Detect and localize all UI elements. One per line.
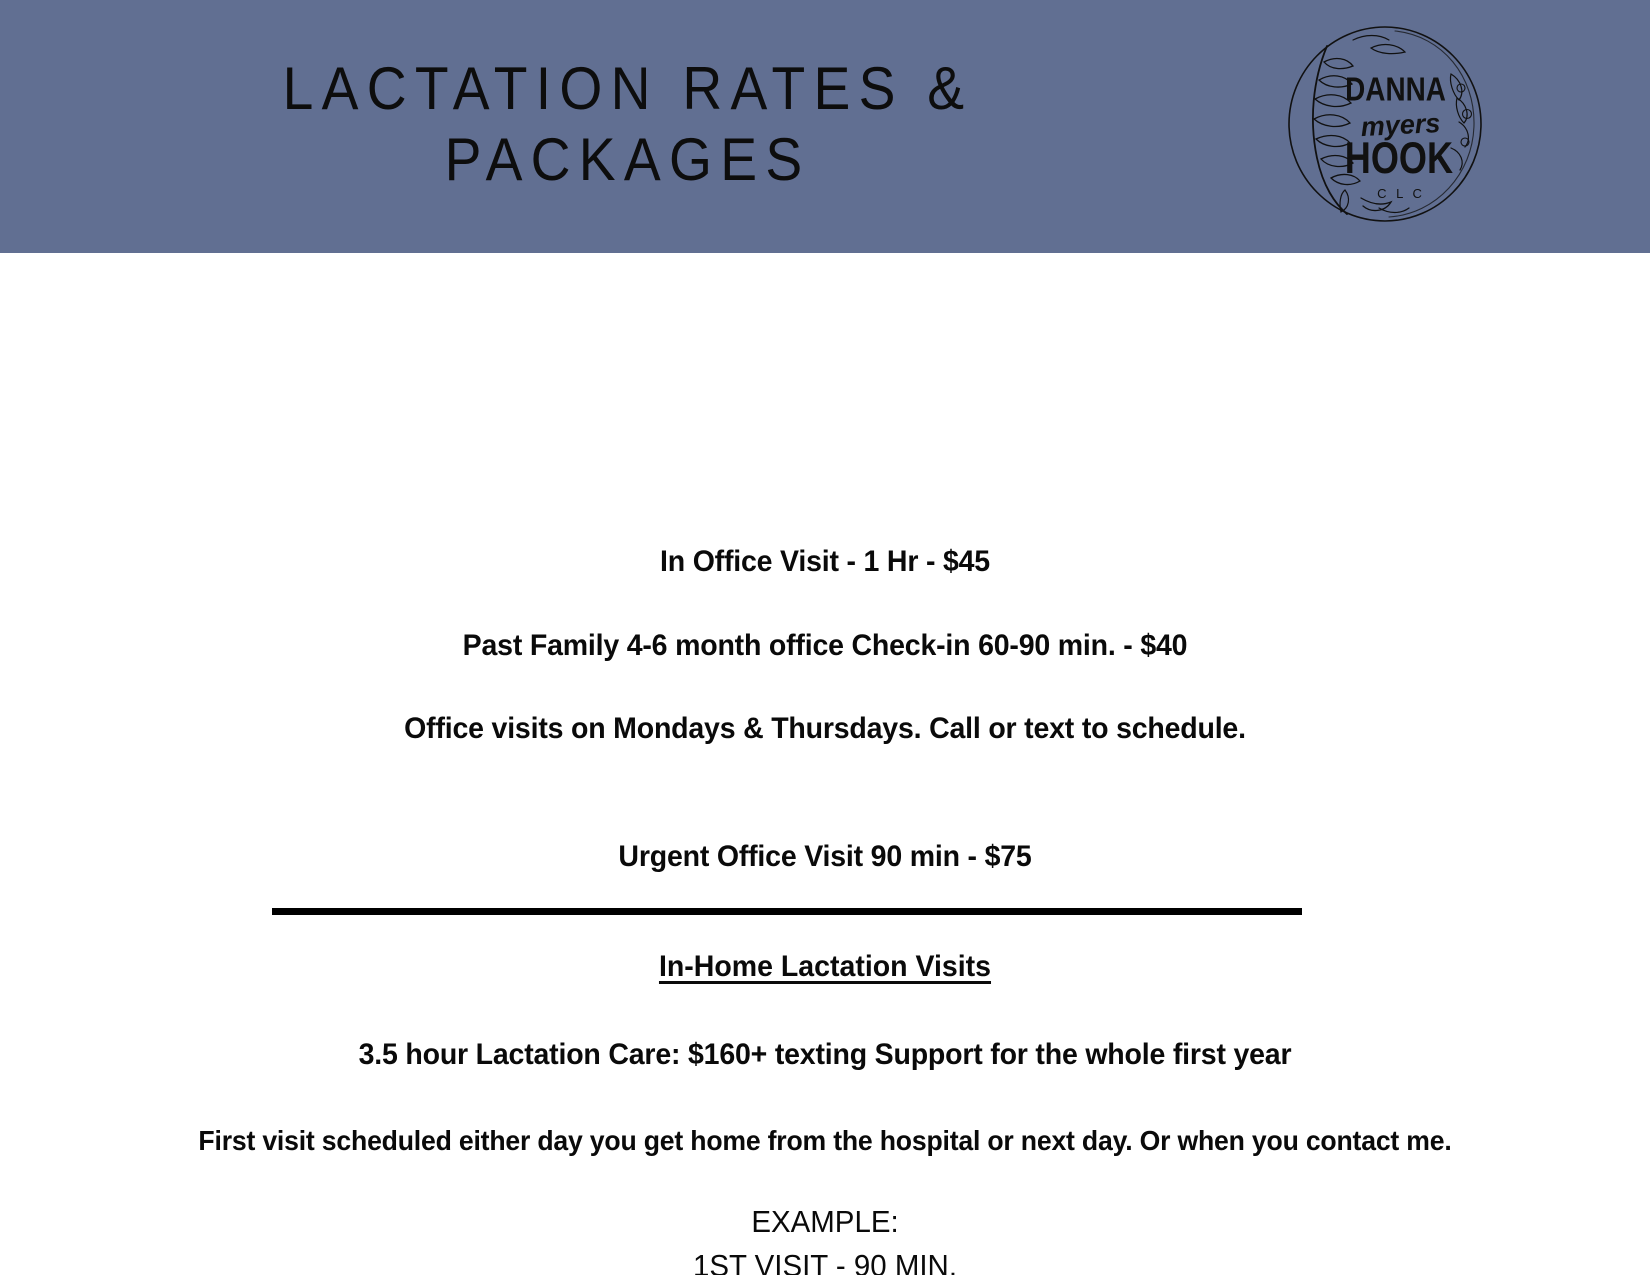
- flyer-body: In Office Visit - 1 Hr - $45 Past Family…: [0, 253, 1650, 1275]
- flyer-page: LACTATION RATES & PACKAGES: [0, 0, 1650, 1275]
- danna-myers-hook-clc-logo: DANNA myers HOOK C L C: [1283, 22, 1488, 227]
- page-title: LACTATION RATES & PACKAGES: [50, 54, 1205, 196]
- rate-in-office-visit: In Office Visit - 1 Hr - $45: [41, 545, 1609, 579]
- rate-past-family-checkin: Past Family 4-6 month office Check-in 60…: [41, 629, 1609, 663]
- header-band: LACTATION RATES & PACKAGES: [0, 0, 1650, 253]
- logo-line-danna: DANNA: [1345, 70, 1446, 108]
- section-heading-in-home-lactation-visits: In-Home Lactation Visits: [41, 950, 1609, 984]
- example-first-visit-duration: 1ST VISIT - 90 MIN.: [41, 1245, 1609, 1275]
- section-divider: [272, 908, 1302, 915]
- example-label: EXAMPLE:: [41, 1201, 1609, 1244]
- logo-line-clc: C L C: [1377, 186, 1425, 201]
- rate-lactation-care-package: 3.5 hour Lactation Care: $160+ texting S…: [41, 1038, 1609, 1072]
- rate-urgent-office-visit: Urgent Office Visit 90 min - $75: [41, 840, 1609, 874]
- first-visit-scheduling-note: First visit scheduled either day you get…: [41, 1125, 1609, 1157]
- office-days-note: Office visits on Mondays & Thursdays. Ca…: [41, 712, 1609, 746]
- logo-line-hook: HOOK: [1345, 132, 1453, 183]
